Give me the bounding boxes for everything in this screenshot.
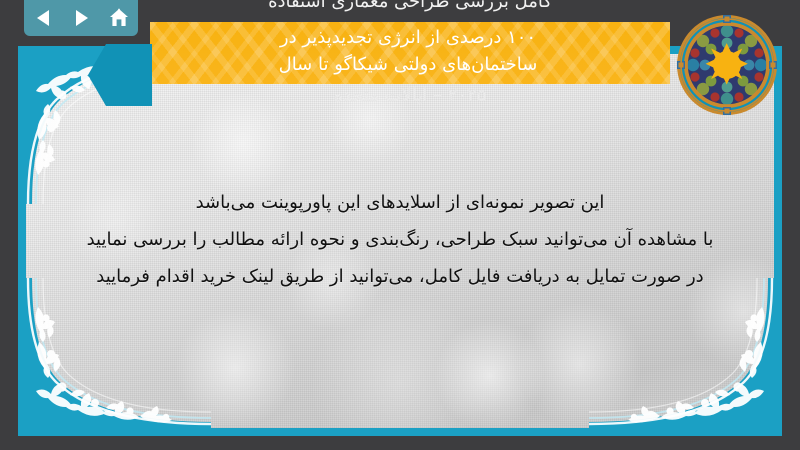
next-slide-button[interactable] [66,5,96,31]
banner-line-1: ۱۰۰ درصدی از انرژی تجدیدپذیر در [164,24,652,51]
prev-slide-button[interactable] [28,5,58,31]
triangle-left-icon [35,9,52,27]
slide-navigation-bar [24,0,138,36]
slide-title-banner: ۱۰۰ درصدی از انرژی تجدیدپذیر در ساختمان‌… [150,22,670,84]
body-line-1: این تصویر نمونه‌ای از اسلایدهای این پاور… [58,184,742,221]
slide-title-top-line: کامل بررسی طراحی معماری استفاده [150,0,670,13]
banner-surface: ۱۰۰ درصدی از انرژی تجدیدپذیر در ساختمان‌… [150,22,670,84]
mandala-ornament-icon [676,14,778,116]
arrow-tab-icon [88,44,152,106]
slide-body-text: این تصویر نمونه‌ای از اسلایدهای این پاور… [58,184,742,295]
banner-line-2: ساختمان‌های دولتی شیکاگو تا سال [164,51,652,78]
triangle-right-icon [73,9,90,27]
home-button[interactable] [104,5,134,31]
body-line-2: با مشاهده آن می‌توانید سبک طراحی، رنگ‌بن… [58,221,742,258]
slide-preview-root: کامل بررسی طراحی معماری استفاده ۱۰۰ درصد… [0,0,800,450]
home-icon [108,8,130,28]
slide-title-tail-line: ۲۰۲۵ – ایالات متحده [150,84,670,108]
body-line-3: در صورت تمایل به دریافت فایل کامل، می‌تو… [58,258,742,295]
